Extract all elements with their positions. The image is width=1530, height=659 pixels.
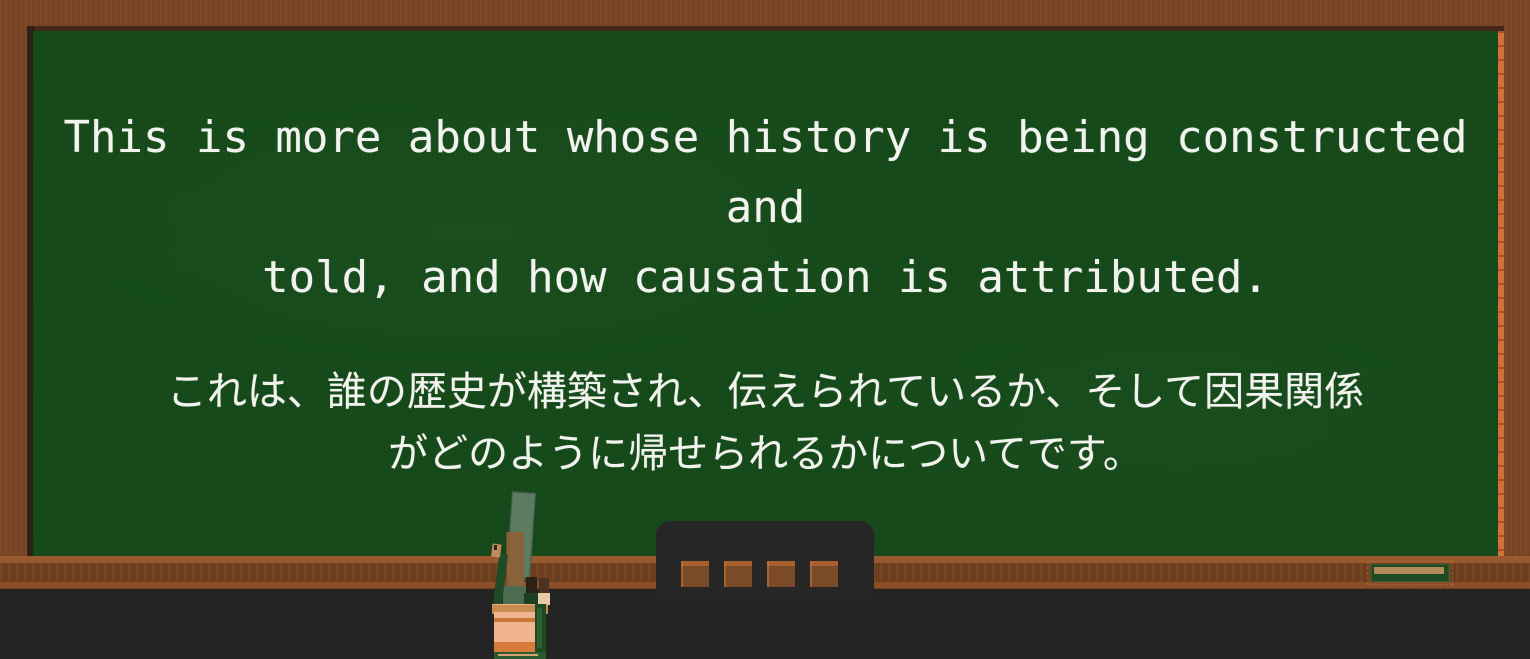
frame-bevel-right	[1497, 31, 1504, 558]
english-line-2: told, and how causation is attributed.	[33, 243, 1498, 313]
cup-foot-line	[498, 654, 538, 656]
bevel-grain-texture	[1497, 31, 1504, 558]
pencil-lead	[494, 545, 497, 550]
eraser-felt	[1374, 567, 1444, 574]
chalkboard-eraser	[1371, 564, 1449, 582]
english-line-1: This is more about whose history is bein…	[33, 103, 1498, 243]
classroom-scene: This is more about whose history is bein…	[0, 0, 1530, 659]
japanese-line-2: がどのように帰せられるかについてです。	[33, 423, 1498, 485]
chair-slat	[681, 561, 709, 587]
pencil-cup-group	[490, 492, 550, 659]
floor	[0, 589, 1530, 659]
japanese-line-1: これは、誰の歴史が構築され、伝えられているか、そして因果関係	[33, 361, 1498, 423]
chair-slat	[724, 561, 752, 587]
cup-side-edge-inner	[537, 608, 542, 648]
japanese-text-block: これは、誰の歴史が構築され、伝えられているか、そして因果関係 がどのように帰せら…	[33, 361, 1498, 485]
chair-slat	[767, 561, 795, 587]
english-text-block: This is more about whose history is bein…	[33, 103, 1498, 313]
chair-slat	[810, 561, 838, 587]
chalkboard-text: This is more about whose history is bein…	[33, 31, 1498, 485]
chalkboard-surface: This is more about whose history is bein…	[33, 31, 1498, 557]
